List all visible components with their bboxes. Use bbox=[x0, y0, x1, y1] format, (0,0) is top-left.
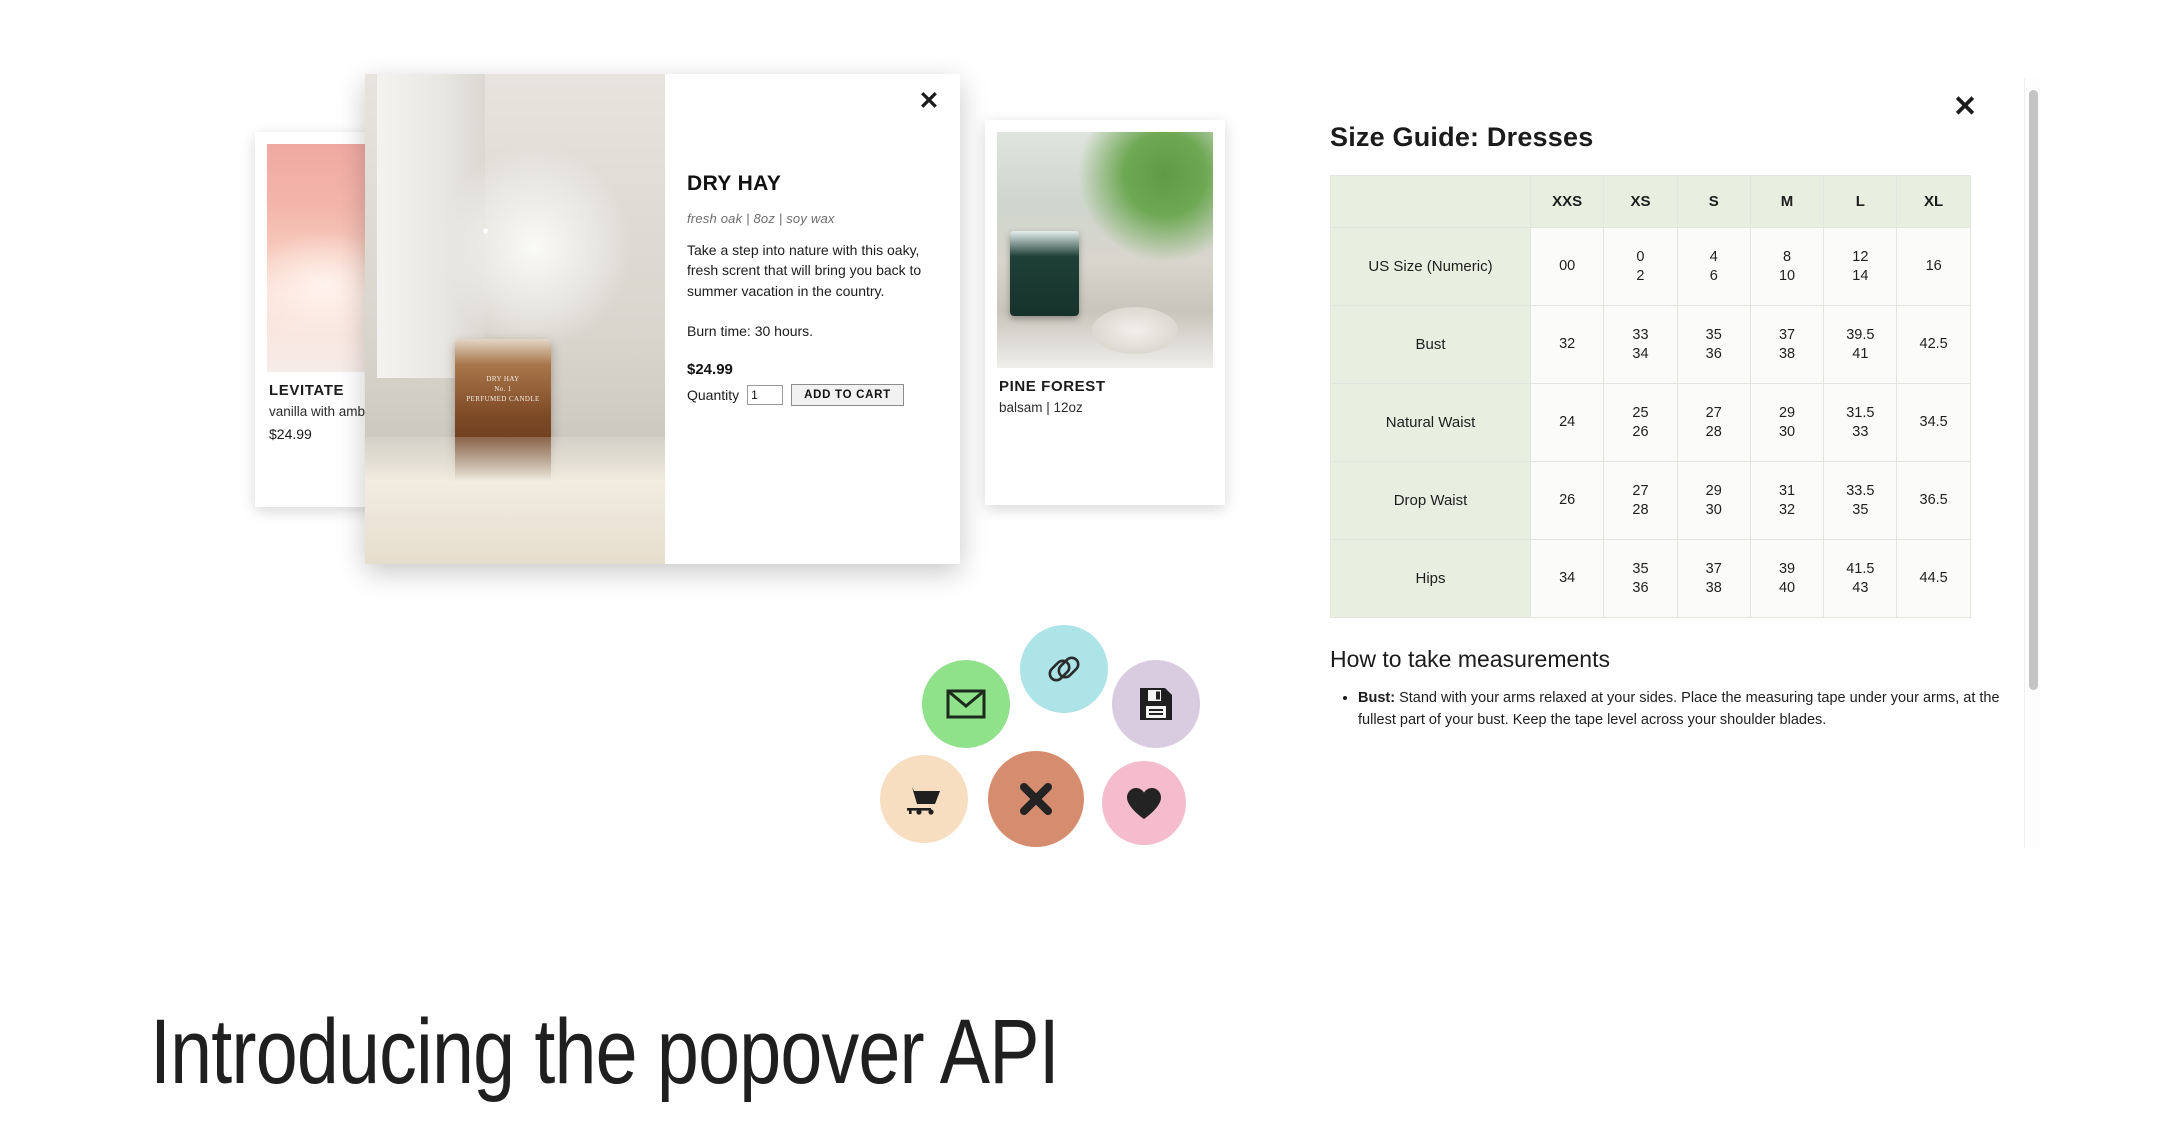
row-header: Hips bbox=[1331, 540, 1531, 618]
close-icon[interactable]: ✕ bbox=[1950, 92, 1980, 122]
row-header: Natural Waist bbox=[1331, 384, 1531, 462]
table-row: Drop Waist2627282930313233.53536.5 bbox=[1331, 462, 1971, 540]
floppy-disk-icon[interactable] bbox=[1112, 660, 1200, 748]
table-cell: 00 bbox=[1531, 228, 1604, 306]
product-popover-dry-hay[interactable]: DRY HAYNo. 1PERFUMED CANDLE ✕ DRY HAY fr… bbox=[365, 74, 960, 564]
link-icon[interactable] bbox=[1020, 625, 1108, 713]
table-cell: 26 bbox=[1531, 462, 1604, 540]
page-root: LEVITATE vanilla with amber notes $24.99… bbox=[0, 0, 2170, 1146]
table-cell: 1214 bbox=[1824, 228, 1897, 306]
table-cell: 3334 bbox=[1604, 306, 1677, 384]
size-guide-table-body: US Size (Numeric)000246810121416Bust3233… bbox=[1331, 228, 1971, 618]
product-info-pine-forest: PINE FOREST balsam | 12oz bbox=[985, 368, 1225, 436]
purchase-row: Quantity ADD TO CART bbox=[687, 384, 938, 406]
table-cell: 42.5 bbox=[1897, 306, 1970, 384]
product-popover-description: Take a step into nature with this oaky, … bbox=[687, 240, 938, 301]
product-popover-burn-time: Burn time: 30 hours. bbox=[687, 323, 938, 339]
table-cell: 24 bbox=[1531, 384, 1604, 462]
table-cell: 02 bbox=[1604, 228, 1677, 306]
quantity-input[interactable] bbox=[747, 385, 783, 405]
table-cell: 3940 bbox=[1750, 540, 1823, 618]
measurement-term: Bust: bbox=[1358, 690, 1395, 706]
table-cell: 3738 bbox=[1750, 306, 1823, 384]
product-popover-title: DRY HAY bbox=[687, 74, 938, 196]
table-cell: 3536 bbox=[1677, 306, 1750, 384]
table-row: US Size (Numeric)000246810121416 bbox=[1331, 228, 1971, 306]
size-guide-table: XXS XS S M L XL US Size (Numeric)0002468… bbox=[1330, 175, 1971, 618]
table-cell: 2930 bbox=[1677, 462, 1750, 540]
row-header: Drop Waist bbox=[1331, 462, 1531, 540]
table-cell: 2930 bbox=[1750, 384, 1823, 462]
column-header-s: S bbox=[1677, 176, 1750, 228]
product-popover-detail: ✕ DRY HAY fresh oak | 8oz | soy wax Take… bbox=[665, 74, 960, 564]
size-guide-heading: Size Guide: Dresses bbox=[1300, 78, 2040, 153]
table-cell: 810 bbox=[1750, 228, 1823, 306]
column-header-xxs: XXS bbox=[1531, 176, 1604, 228]
column-header-blank bbox=[1331, 176, 1531, 228]
table-cell: 33.535 bbox=[1824, 462, 1897, 540]
table-cell: 3132 bbox=[1750, 462, 1823, 540]
table-cell: 3738 bbox=[1677, 540, 1750, 618]
measurement-text: Stand with your arms relaxed at your sid… bbox=[1358, 690, 2000, 728]
page-title: Introducing the popover API bbox=[150, 1000, 1059, 1105]
column-header-m: M bbox=[1750, 176, 1823, 228]
product-image-pine-forest bbox=[985, 120, 1225, 368]
row-header: US Size (Numeric) bbox=[1331, 228, 1531, 306]
measurement-instructions-list: Bust: Stand with your arms relaxed at yo… bbox=[1300, 687, 2040, 731]
product-card-stack: LEVITATE vanilla with amber notes $24.99… bbox=[255, 120, 1225, 560]
table-header-row: XXS XS S M L XL bbox=[1331, 176, 1971, 228]
row-header: Bust bbox=[1331, 306, 1531, 384]
table-cell: 39.541 bbox=[1824, 306, 1897, 384]
table-cell: 36.5 bbox=[1897, 462, 1970, 540]
close-icon[interactable]: ✕ bbox=[916, 88, 942, 114]
how-to-measure-heading: How to take measurements bbox=[1300, 646, 2040, 673]
jar-label-text: DRY HAYNo. 1PERFUMED CANDLE bbox=[465, 374, 542, 404]
table-cell: 16 bbox=[1897, 228, 1970, 306]
product-description-pine-forest: balsam | 12oz bbox=[999, 400, 1211, 415]
table-row: Hips3435363738394041.54344.5 bbox=[1331, 540, 1971, 618]
list-item: Bust: Stand with your arms relaxed at yo… bbox=[1358, 687, 2040, 731]
column-header-l: L bbox=[1824, 176, 1897, 228]
close-x-icon[interactable] bbox=[988, 751, 1084, 847]
table-cell: 41.543 bbox=[1824, 540, 1897, 618]
product-popover-price: $24.99 bbox=[687, 361, 938, 378]
product-name-pine-forest: PINE FOREST bbox=[999, 378, 1211, 395]
add-to-cart-button[interactable]: ADD TO CART bbox=[791, 384, 904, 406]
size-guide-panel: ✕ Size Guide: Dresses XXS XS S M L XL US… bbox=[1300, 78, 2040, 848]
table-cell: 34.5 bbox=[1897, 384, 1970, 462]
table-row: Bust3233343536373839.54142.5 bbox=[1331, 306, 1971, 384]
share-action-icon-cluster bbox=[880, 635, 1280, 875]
table-cell: 2728 bbox=[1604, 462, 1677, 540]
table-cell: 46 bbox=[1677, 228, 1750, 306]
product-image-dry-hay: DRY HAYNo. 1PERFUMED CANDLE bbox=[365, 74, 665, 564]
scrollbar-track[interactable] bbox=[2024, 78, 2040, 848]
column-header-xl: XL bbox=[1897, 176, 1970, 228]
shopping-cart-icon[interactable] bbox=[880, 755, 968, 843]
table-cell: 2526 bbox=[1604, 384, 1677, 462]
table-row: Natural Waist2425262728293031.53334.5 bbox=[1331, 384, 1971, 462]
envelope-icon[interactable] bbox=[922, 660, 1010, 748]
table-cell: 3536 bbox=[1604, 540, 1677, 618]
column-header-xs: XS bbox=[1604, 176, 1677, 228]
heart-icon[interactable] bbox=[1102, 761, 1186, 845]
table-cell: 44.5 bbox=[1897, 540, 1970, 618]
product-card-pine-forest[interactable]: PINE FOREST balsam | 12oz bbox=[985, 120, 1225, 505]
product-popover-subtitle: fresh oak | 8oz | soy wax bbox=[687, 211, 938, 226]
quantity-label: Quantity bbox=[687, 387, 739, 403]
scrollbar-thumb[interactable] bbox=[2029, 90, 2038, 690]
table-cell: 2728 bbox=[1677, 384, 1750, 462]
table-cell: 31.533 bbox=[1824, 384, 1897, 462]
table-cell: 32 bbox=[1531, 306, 1604, 384]
table-cell: 34 bbox=[1531, 540, 1604, 618]
